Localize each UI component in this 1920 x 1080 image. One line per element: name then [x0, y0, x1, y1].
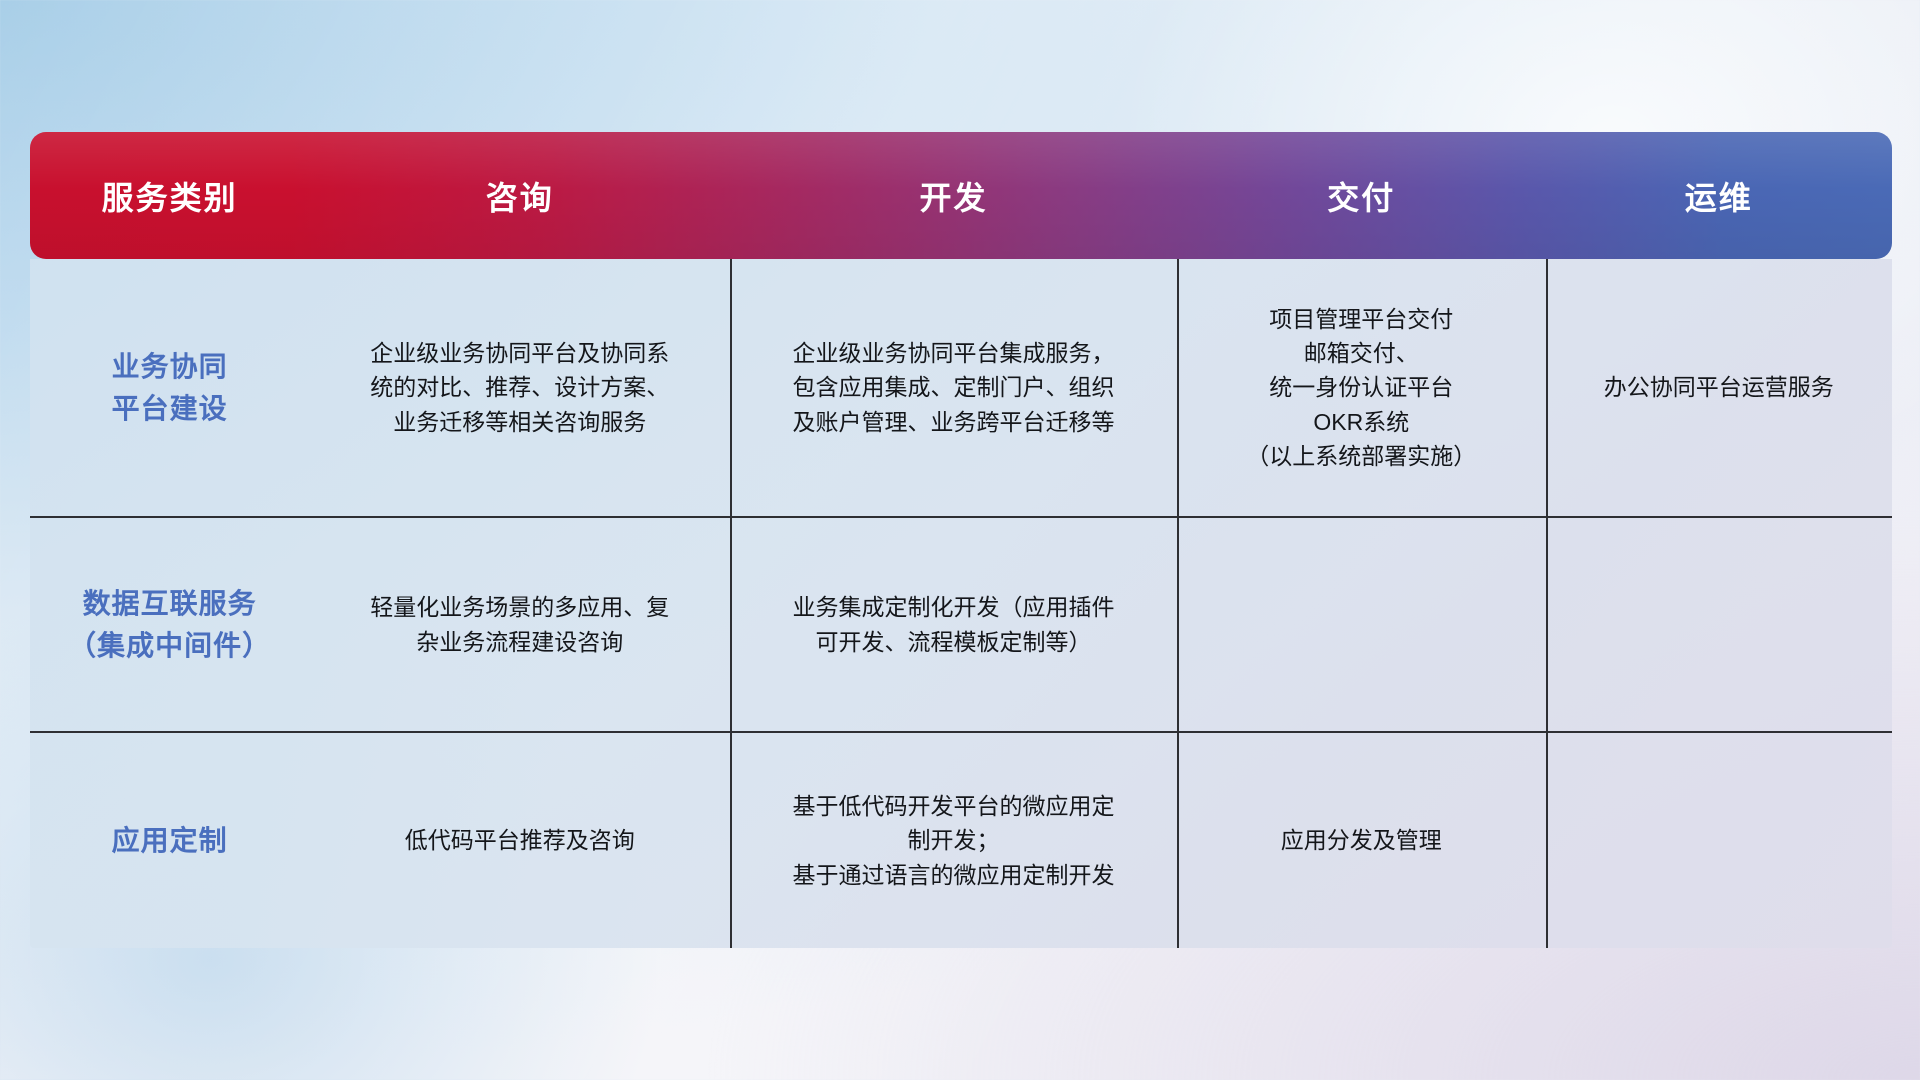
row-category-label: 业务协同 平台建设 — [30, 259, 309, 516]
service-matrix-table: 服务类别 咨询 开发 交付 运维 业务协同 平台建设 企业级业务协同平台及协同系… — [30, 132, 1892, 952]
cell-operations — [1546, 518, 1892, 731]
cell-delivery: 应用分发及管理 — [1177, 733, 1546, 948]
cell-operations: 办公协同平台运营服务 — [1546, 259, 1892, 516]
header-cell-development: 开发 — [730, 132, 1177, 259]
cell-development: 业务集成定制化开发（应用插件 可开发、流程模板定制等） — [730, 518, 1177, 731]
row-category-label: 应用定制 — [30, 733, 309, 948]
cell-consulting: 低代码平台推荐及咨询 — [309, 733, 730, 948]
header-cell-delivery: 交付 — [1177, 132, 1546, 259]
cell-delivery — [1177, 518, 1546, 731]
table-row: 数据互联服务 （集成中间件） 轻量化业务场景的多应用、复 杂业务流程建设咨询 业… — [30, 516, 1892, 731]
cell-delivery: 项目管理平台交付 邮箱交付、 统一身份认证平台 OKR系统 （以上系统部署实施） — [1177, 259, 1546, 516]
table-row: 应用定制 低代码平台推荐及咨询 基于低代码开发平台的微应用定 制开发； 基于通过… — [30, 731, 1892, 948]
header-cell-service-category: 服务类别 — [30, 132, 309, 259]
cell-consulting: 轻量化业务场景的多应用、复 杂业务流程建设咨询 — [309, 518, 730, 731]
table-header-row: 服务类别 咨询 开发 交付 运维 — [30, 132, 1892, 259]
table-row: 业务协同 平台建设 企业级业务协同平台及协同系 统的对比、推荐、设计方案、 业务… — [30, 259, 1892, 516]
cell-development: 基于低代码开发平台的微应用定 制开发； 基于通过语言的微应用定制开发 — [730, 733, 1177, 948]
cell-consulting: 企业级业务协同平台及协同系 统的对比、推荐、设计方案、 业务迁移等相关咨询服务 — [309, 259, 730, 516]
header-cell-consulting: 咨询 — [309, 132, 730, 259]
cell-development: 企业级业务协同平台集成服务， 包含应用集成、定制门户、组织 及账户管理、业务跨平… — [730, 259, 1177, 516]
table-body: 业务协同 平台建设 企业级业务协同平台及协同系 统的对比、推荐、设计方案、 业务… — [30, 259, 1892, 948]
header-cell-operations: 运维 — [1546, 132, 1892, 259]
cell-operations — [1546, 733, 1892, 948]
row-category-label: 数据互联服务 （集成中间件） — [30, 518, 309, 731]
